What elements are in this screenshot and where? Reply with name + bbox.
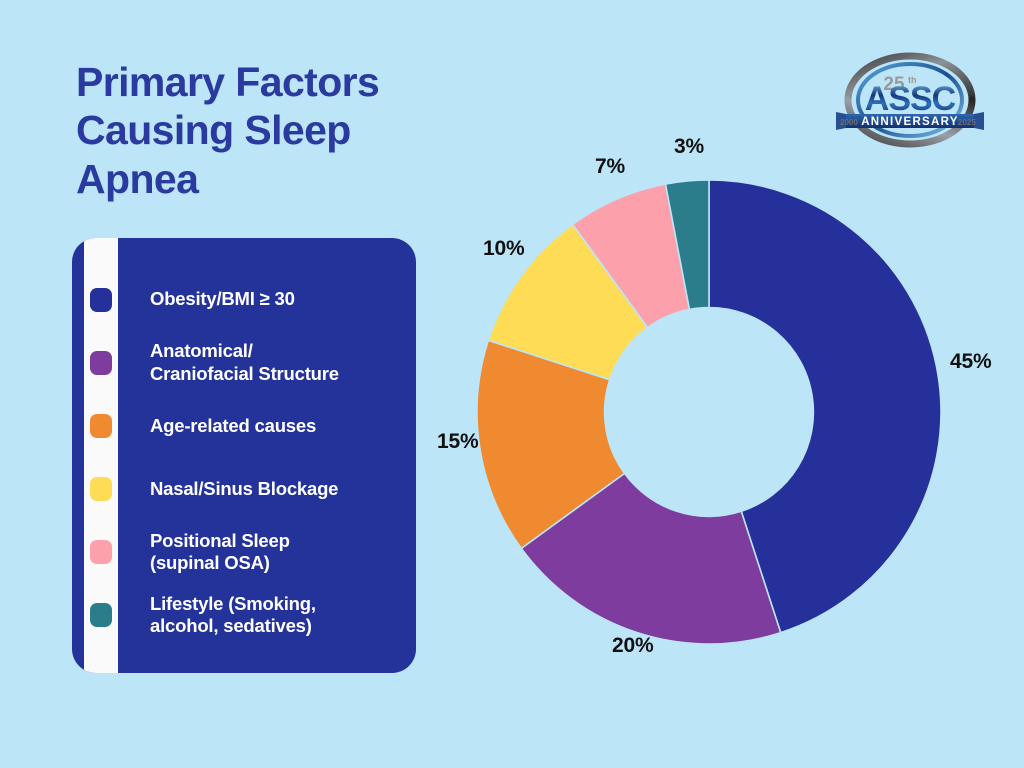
legend-swatch-icon — [90, 603, 112, 627]
legend-item-label: Positional Sleep (supinal OSA) — [150, 530, 302, 575]
logo-brand: ASSC — [865, 80, 956, 118]
pct-label-nasal-blockage: 10% — [483, 237, 524, 261]
legend-swatch-icon — [90, 477, 112, 501]
logo-anniversary-word: ANNIVERSARY — [861, 116, 959, 128]
legend-item-label: Obesity/BMI ≥ 30 — [150, 288, 307, 311]
logo-year-end: 2025 — [958, 118, 976, 127]
legend-item-positional-sleep[interactable]: Positional Sleep (supinal OSA) — [72, 529, 416, 575]
legend-item-anatomical[interactable]: Anatomical/ Craniofacial Structure — [72, 340, 416, 386]
legend-item-label: Age-related causes — [150, 415, 328, 438]
page-title: Primary Factors Causing Sleep Apnea — [76, 58, 476, 203]
pct-label-anatomical: 20% — [612, 634, 653, 658]
legend-list: Obesity/BMI ≥ 30 Anatomical/ Craniofacia… — [72, 238, 416, 673]
legend-item-lifestyle[interactable]: Lifestyle (Smoking, alcohol, sedatives) — [72, 592, 416, 638]
donut-slice-group — [477, 180, 941, 644]
legend-item-nasal-blockage[interactable]: Nasal/Sinus Blockage — [72, 466, 416, 512]
legend-swatch-icon — [90, 414, 112, 438]
legend-item-label: Anatomical/ Craniofacial Structure — [150, 340, 351, 385]
legend-item-age-related[interactable]: Age-related causes — [72, 403, 416, 449]
pct-label-positional: 7% — [595, 155, 625, 179]
legend-swatch-icon — [90, 288, 112, 312]
pct-label-lifestyle: 3% — [674, 135, 704, 159]
legend-swatch-icon — [90, 540, 112, 564]
logo-year-start: 2000 — [840, 118, 858, 127]
legend-item-label: Nasal/Sinus Blockage — [150, 478, 350, 501]
legend-card: Obesity/BMI ≥ 30 Anatomical/ Craniofacia… — [72, 238, 416, 673]
pct-label-obesity: 45% — [950, 350, 991, 374]
donut-chart — [477, 180, 941, 644]
legend-item-obesity[interactable]: Obesity/BMI ≥ 30 — [72, 277, 416, 323]
legend-item-label: Lifestyle (Smoking, alcohol, sedatives) — [150, 593, 328, 638]
assc-anniversary-logo: 25 th ASSC ANNIVERSARY 2000 2025 — [832, 48, 988, 152]
pct-label-age-related: 15% — [437, 430, 478, 454]
legend-swatch-icon — [90, 351, 112, 375]
